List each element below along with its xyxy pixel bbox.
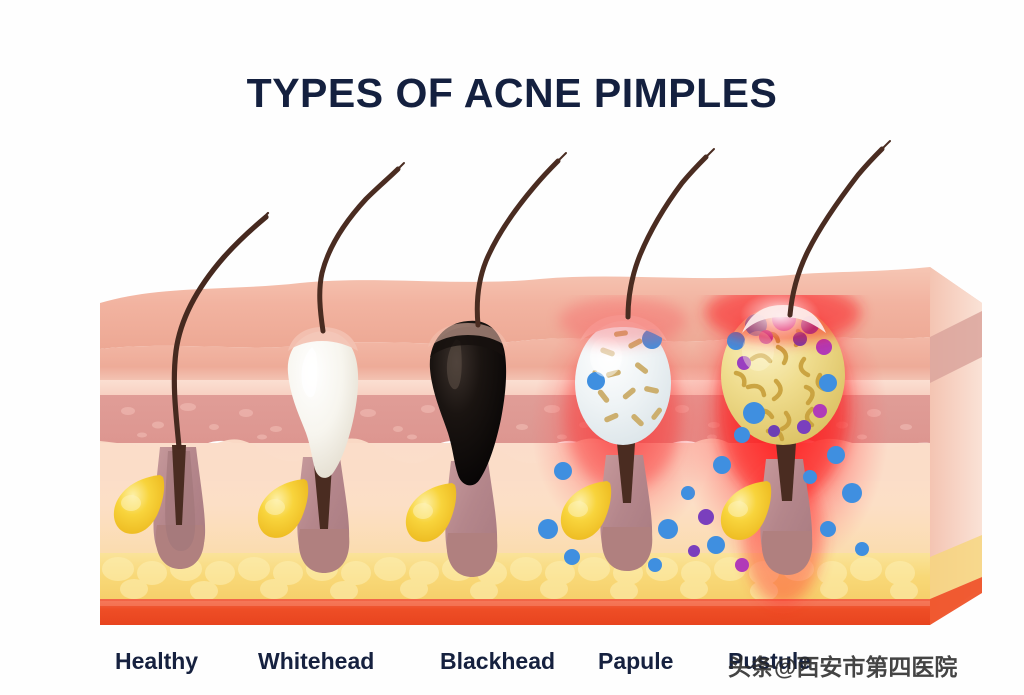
gland-highlight-whitehead <box>265 499 285 515</box>
hair-papule-tip <box>698 149 714 165</box>
label-papule: Papule <box>598 648 673 675</box>
skin-block <box>100 141 982 625</box>
papule-surface-redness <box>559 297 687 345</box>
label-healthy: Healthy <box>115 648 198 675</box>
page-title: TYPES OF ACNE PIMPLES <box>0 70 1024 117</box>
hair-blackhead-tip <box>550 153 566 169</box>
label-whitehead: Whitehead <box>258 648 374 675</box>
skin-cross-section-diagram <box>0 125 1024 645</box>
hair-pustule-tip <box>874 141 890 157</box>
gland-highlight-blackhead <box>413 503 433 519</box>
hair-whitehead-tip <box>388 163 404 179</box>
illustration-canvas: TYPES OF ACNE PIMPLES <box>0 0 1024 695</box>
muscle-highlight <box>100 601 930 606</box>
gland-highlight-healthy <box>121 495 141 511</box>
gland-highlight-papule <box>568 501 588 517</box>
watermark-text: 头条@西安市第四医院 <box>728 648 957 682</box>
gland-highlight-pustule <box>728 501 748 517</box>
label-blackhead: Blackhead <box>440 648 555 675</box>
hair-healthy-tip <box>252 213 268 229</box>
